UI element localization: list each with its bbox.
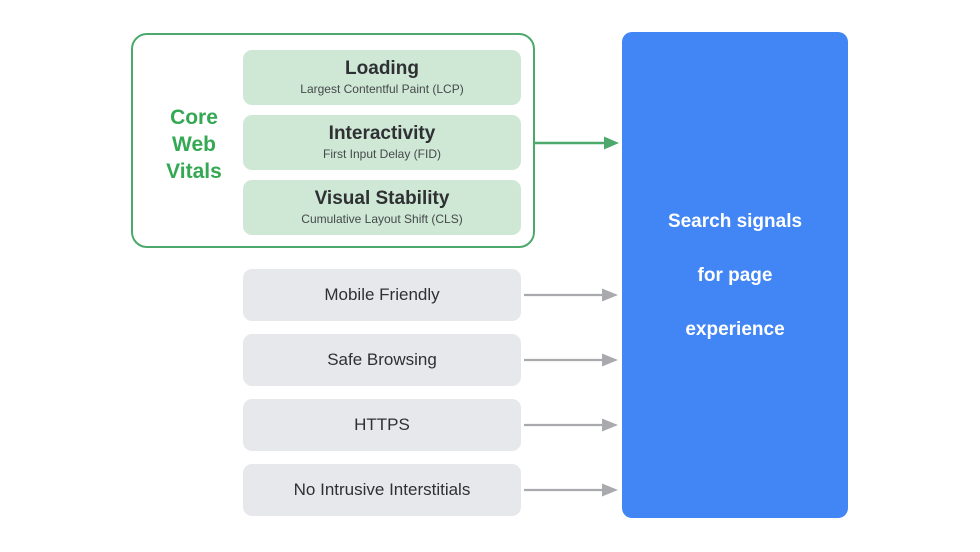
metric-title-visual-stability: Visual Stability (315, 188, 450, 210)
core-web-vitals-label-line-2: Web (150, 131, 238, 158)
diagram-canvas: Core Web Vitals Loading Largest Contentf… (0, 0, 980, 552)
metric-card-visual-stability[interactable]: Visual Stability Cumulative Layout Shift… (243, 180, 521, 235)
signal-card-https[interactable]: HTTPS (243, 399, 521, 451)
arrow-https (524, 419, 618, 432)
search-signals-line-2: for page (668, 262, 802, 289)
cwv-word-vitals: Vitals (166, 160, 222, 183)
metric-subtitle-loading: Largest Contentful Paint (LCP) (300, 81, 463, 97)
arrow-mobile-friendly (524, 289, 618, 302)
signal-label-no-intrusive-interstitials: No Intrusive Interstitials (294, 479, 471, 501)
metric-card-loading[interactable]: Loading Largest Contentful Paint (LCP) (243, 50, 521, 105)
metric-subtitle-visual-stability: Cumulative Layout Shift (CLS) (301, 211, 462, 227)
arrow-safe-browsing (524, 354, 618, 367)
metric-subtitle-interactivity: First Input Delay (FID) (323, 146, 441, 162)
cwv-word-core: Core (170, 106, 218, 129)
cwv-word-web: Web (172, 133, 216, 156)
signal-card-safe-browsing[interactable]: Safe Browsing (243, 334, 521, 386)
search-signals-label: Search signals for page experience (668, 181, 802, 370)
signal-card-no-intrusive-interstitials[interactable]: No Intrusive Interstitials (243, 464, 521, 516)
arrow-no-intrusive-interstitials (524, 484, 618, 497)
core-web-vitals-label: Core Web Vitals (150, 104, 238, 185)
signal-card-mobile-friendly[interactable]: Mobile Friendly (243, 269, 521, 321)
signal-label-mobile-friendly: Mobile Friendly (324, 284, 439, 306)
metric-title-interactivity: Interactivity (329, 123, 436, 145)
signal-label-safe-browsing: Safe Browsing (327, 349, 437, 371)
arrow-core-web-vitals (534, 137, 619, 150)
core-web-vitals-label-line-1: Core (150, 104, 238, 131)
core-web-vitals-label-line-3: Vitals (150, 158, 238, 185)
search-signals-line-3: experience (668, 316, 802, 343)
signal-label-https: HTTPS (354, 414, 410, 436)
search-signals-box: Search signals for page experience (622, 32, 848, 518)
metric-title-loading: Loading (345, 58, 419, 80)
metric-card-interactivity[interactable]: Interactivity First Input Delay (FID) (243, 115, 521, 170)
search-signals-line-1: Search signals (668, 208, 802, 235)
